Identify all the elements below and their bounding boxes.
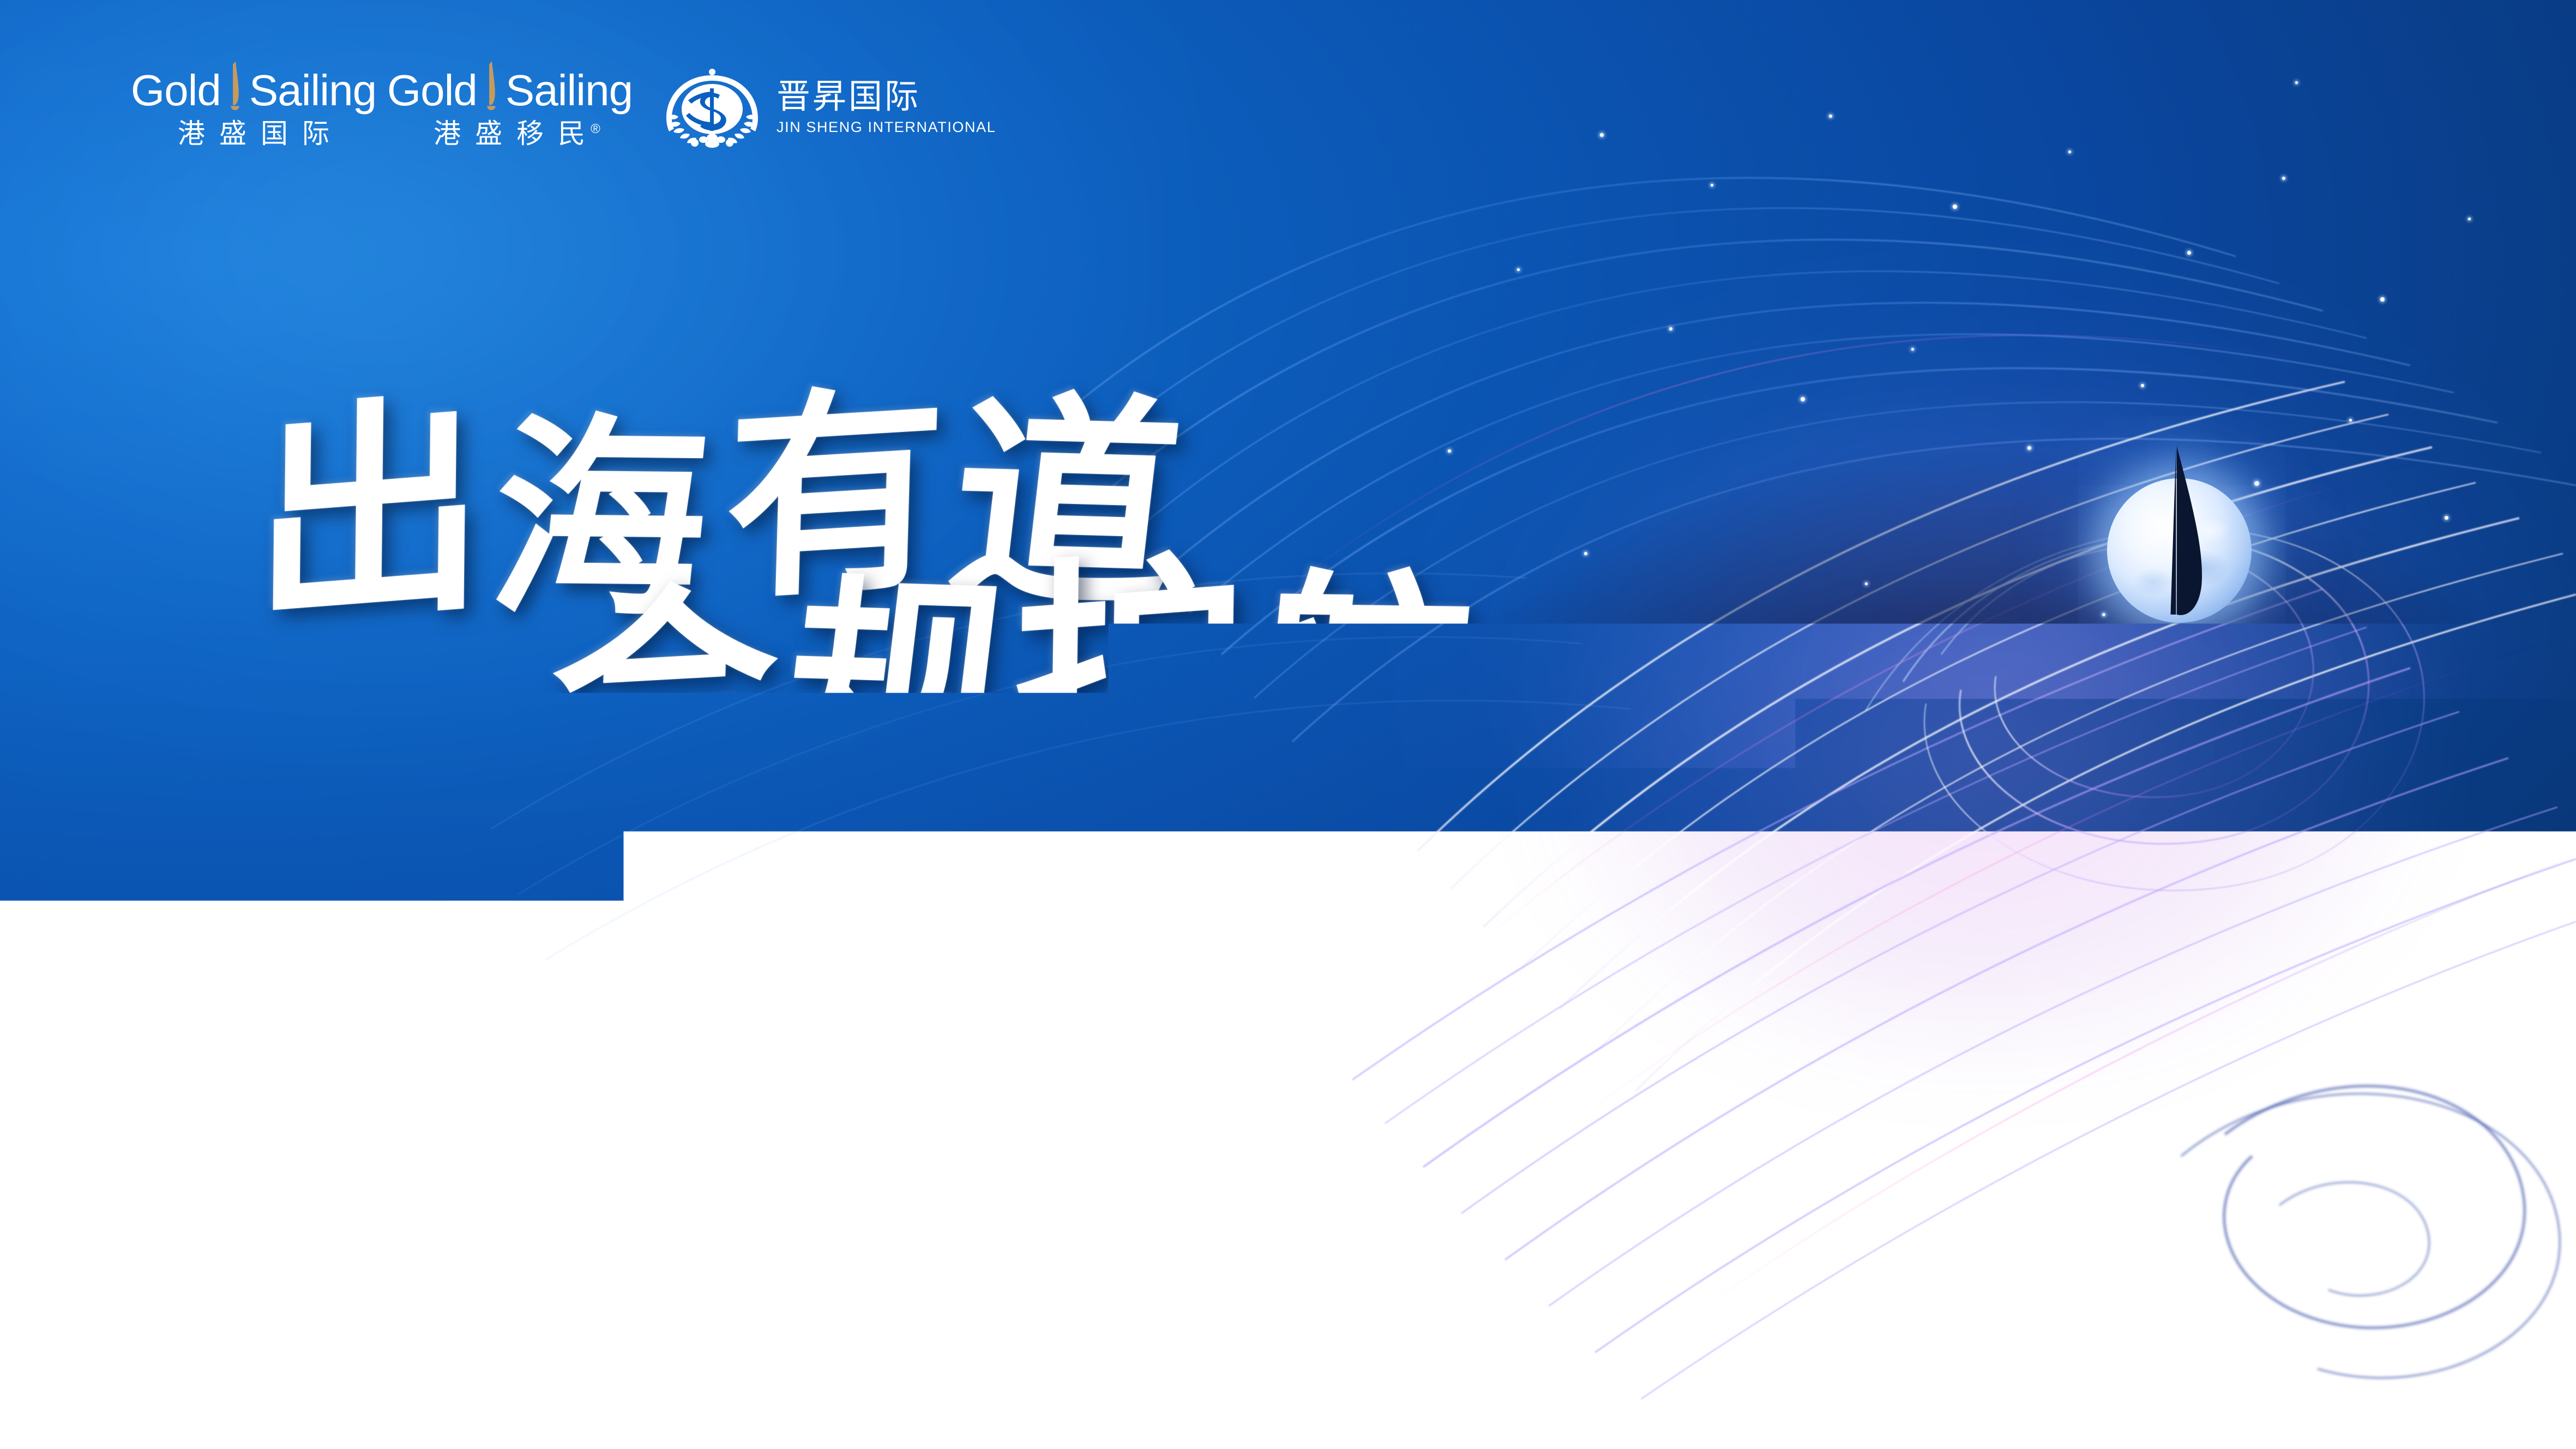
headline-line-2: 合规护航: [545, 497, 1496, 833]
logo-bar: Gold Sailing 港盛国际 Gold: [125, 65, 996, 149]
logo-chinese-gangsheng-immigration: 港盛移民®: [419, 119, 600, 149]
logo-chinese-text: 港盛移民: [434, 118, 599, 149]
subtitle-block: 2021港盛国际百企跨境税筹训战营-上海站 2021 Gangsheng int…: [273, 1006, 1591, 1131]
logo-chinese-jinsheng: 晋昇国际: [777, 79, 996, 115]
headline-char: 护: [1010, 472, 1265, 827]
logo-word-sailing: Sailing: [505, 69, 633, 112]
logo-chinese-gangsheng-international: 港盛国际: [164, 119, 344, 149]
headline-char: 航: [1237, 502, 1501, 821]
light-bubble-ring: [2328, 1081, 2362, 1113]
poster-canvas: Gold Sailing 港盛国际 Gold: [0, 0, 2576, 1449]
gold-sail-icon: [479, 61, 502, 113]
logo-gold-sailing-international[interactable]: Gold Sailing 港盛国际: [125, 65, 382, 149]
headline-char: 规: [772, 504, 1038, 824]
logo-gold-sailing-immigration[interactable]: Gold Sailing 港盛移民®: [382, 65, 638, 149]
subtitle-chinese: 2021港盛国际百企跨境税筹训战营-上海站: [273, 1006, 1591, 1081]
gold-sail-icon: [223, 61, 246, 113]
sailboat-icon: [2138, 443, 2216, 661]
subtitle-english: 2021 Gangsheng international 100 enterpr…: [273, 1095, 1433, 1131]
registered-mark-icon: ®: [591, 122, 600, 136]
logo-english-jinsheng: JIN SHENG INTERNATIONAL: [777, 119, 996, 136]
laurel-wreath-s-monogram-icon: [662, 67, 762, 148]
logo-word-sailing: Sailing: [249, 69, 376, 112]
headline-char: 合: [545, 507, 798, 849]
headline-char: 出: [252, 317, 503, 670]
subtitle-year: 2021: [273, 1005, 432, 1083]
subtitle-chinese-text: 港盛国际百企跨境税筹训战营-上海站: [432, 1005, 1591, 1083]
logo-word-gold: Gold: [387, 69, 477, 112]
logo-jin-sheng-international[interactable]: 晋昇国际 JIN SHENG INTERNATIONAL: [662, 65, 996, 148]
headline-block: 出海有道 合规护航: [0, 327, 1734, 998]
logo-word-gold: Gold: [131, 69, 221, 112]
